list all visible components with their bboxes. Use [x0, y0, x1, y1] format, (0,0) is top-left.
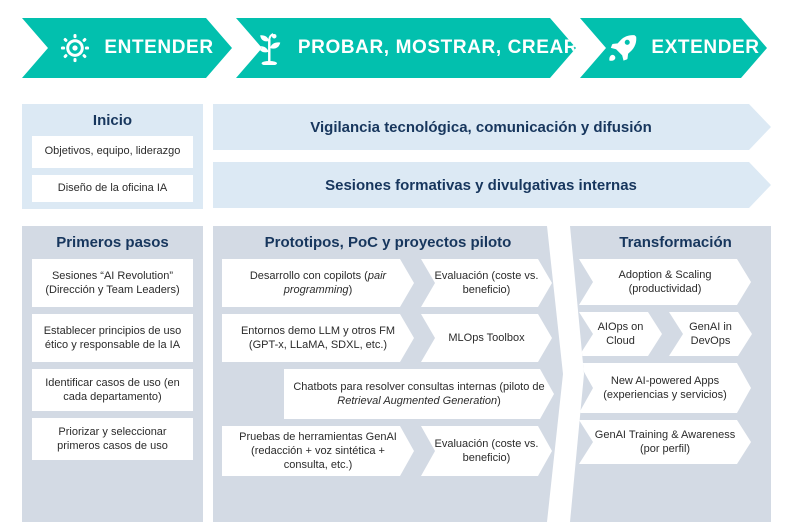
item-text: Desarrollo con copilots (pair programmin…: [230, 269, 406, 298]
stage-chevron-extender[interactable]: EXTENDER: [580, 18, 767, 78]
list-item[interactable]: Sesiones “AI Revolution” (Dirección y Te…: [32, 259, 193, 307]
table-row: Entornos demo LLM y otros FM (GPT-x, LLa…: [222, 314, 554, 362]
transformation-item-genai-training[interactable]: GenAI Training & Awareness (por perfil): [579, 420, 751, 464]
table-row: Chatbots para resolver consultas interna…: [284, 369, 554, 419]
transformation-item-aiops-cloud[interactable]: AIOps on Cloud: [579, 312, 662, 356]
list-item[interactable]: Establecer principios de uso ético y res…: [32, 314, 193, 362]
column-transformacion: Transformación Adoption & Scaling (produ…: [570, 226, 771, 522]
stage-label: PROBAR, MOSTRAR, CREAR: [298, 37, 578, 59]
stage-chevron-entender[interactable]: ENTENDER: [22, 18, 232, 78]
list-item[interactable]: Priorizar y seleccionar primeros casos d…: [32, 418, 193, 460]
table-row: AIOps on Cloud GenAI in DevOps: [579, 312, 762, 356]
prototype-item-pruebas-genai[interactable]: Pruebas de herramientas GenAI (redacción…: [222, 426, 414, 476]
prototype-item-desarrollo[interactable]: Desarrollo con copilots (pair programmin…: [222, 259, 414, 307]
banner-vigilancia-tecnologica[interactable]: Vigilancia tecnológica, comunicación y d…: [213, 104, 771, 150]
prototype-item-evaluacion-2[interactable]: Evaluación (coste vs. beneficio): [421, 426, 552, 476]
inicio-panel: Inicio Objetivos, equipo, liderazgo Dise…: [22, 104, 203, 209]
stage-chevron-probar[interactable]: PROBAR, MOSTRAR, CREAR: [236, 18, 576, 78]
banner-label: Vigilancia tecnológica, comunicación y d…: [310, 119, 651, 136]
transformation-item-genai-devops[interactable]: GenAI in DevOps: [669, 312, 752, 356]
spacer: [662, 312, 669, 356]
table-row: New AI-powered Apps (experiencias y serv…: [579, 363, 762, 413]
sprout-plant-icon: [254, 31, 284, 65]
inicio-item[interactable]: Objetivos, equipo, liderazgo: [32, 136, 193, 168]
table-row: Pruebas de herramientas GenAI (redacción…: [222, 426, 554, 476]
column-title: Primeros pasos: [32, 234, 193, 251]
inicio-item[interactable]: Diseño de la oficina IA: [32, 175, 193, 202]
table-row: Adoption & Scaling (productividad): [579, 259, 762, 305]
lightbulb-sun-icon: [60, 33, 90, 63]
transformation-item-adoption-scaling[interactable]: Adoption & Scaling (productividad): [579, 259, 751, 305]
column-primeros-pasos: Primeros pasos Sesiones “AI Revolution” …: [22, 226, 203, 522]
spacer: [414, 259, 421, 307]
stage-label: ENTENDER: [104, 37, 213, 59]
list-item[interactable]: Identificar casos de uso (en cada depart…: [32, 369, 193, 411]
spacer: [414, 314, 421, 362]
rocket-icon: [607, 33, 637, 63]
item-text: Chatbots para resolver consultas interna…: [292, 380, 546, 409]
prototype-item-mlops-toolbox[interactable]: MLOps Toolbox: [421, 314, 552, 362]
banner-sesiones-formativas[interactable]: Sesiones formativas y divulgativas inter…: [213, 162, 771, 208]
stage-header-band: ENTENDER PROBAR, MOSTRAR, CREAR: [0, 0, 787, 96]
prototype-item-entornos-demo[interactable]: Entornos demo LLM y otros FM (GPT-x, LLa…: [222, 314, 414, 362]
stage-label: EXTENDER: [651, 37, 759, 59]
column-prototipos-poc: Prototipos, PoC y proyectos piloto Desar…: [213, 226, 563, 522]
column-title: Transformación: [579, 234, 762, 251]
column-title: Prototipos, PoC y proyectos piloto: [222, 234, 554, 251]
table-row: GenAI Training & Awareness (por perfil): [579, 420, 762, 464]
banner-label: Sesiones formativas y divulgativas inter…: [325, 177, 637, 194]
prototype-item-evaluacion[interactable]: Evaluación (coste vs. beneficio): [421, 259, 552, 307]
transformation-item-new-ai-apps[interactable]: New AI-powered Apps (experiencias y serv…: [579, 363, 751, 413]
spacer: [414, 426, 421, 476]
table-row: Desarrollo con copilots (pair programmin…: [222, 259, 554, 307]
prototype-item-chatbots[interactable]: Chatbots para resolver consultas interna…: [284, 369, 554, 419]
inicio-title: Inicio: [32, 112, 193, 129]
